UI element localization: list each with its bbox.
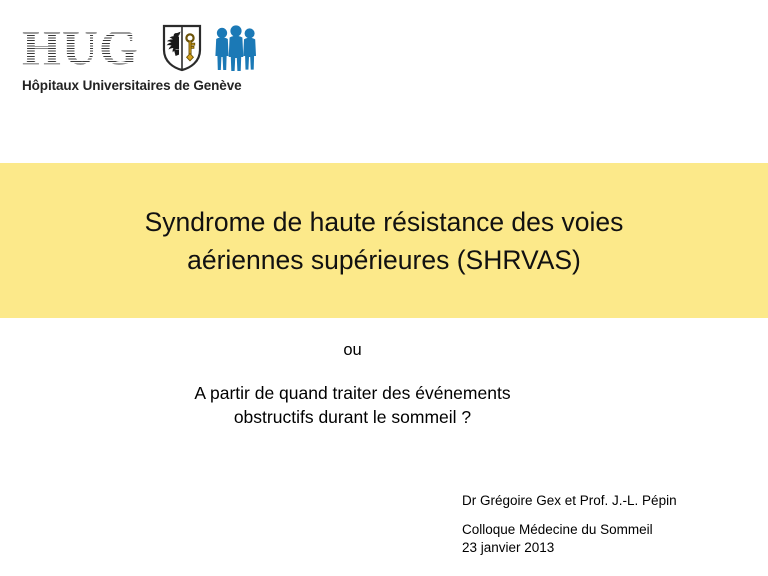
title-line-2: aériennes supérieures (SHRVAS) [54, 241, 714, 279]
subtitle-block: ou A partir de quand traiter des événeme… [0, 340, 705, 429]
geneva-coat-of-arms-icon [162, 24, 202, 77]
author-date: 23 janvier 2013 [462, 539, 677, 557]
logo-marks: HUG [22, 20, 272, 76]
subtitle-question-line-2: obstructifs durant le sommeil ? [0, 405, 705, 429]
hug-wordmark: HUG [22, 22, 139, 72]
page-title: Syndrome de haute résistance des voies a… [54, 203, 714, 279]
subtitle-question-line-1: A partir de quand traiter des événements [0, 381, 705, 405]
subtitle-connector: ou [0, 340, 705, 360]
title-banner: Syndrome de haute résistance des voies a… [0, 163, 768, 318]
author-event: Colloque Médecine du Sommeil [462, 521, 677, 539]
author-names: Dr Grégoire Gex et Prof. J.-L. Pépin [462, 492, 677, 510]
three-people-icon [212, 25, 260, 77]
author-block: Dr Grégoire Gex et Prof. J.-L. Pépin Col… [462, 492, 677, 557]
hug-logo: HUG [22, 20, 282, 102]
title-line-1: Syndrome de haute résistance des voies [54, 203, 714, 241]
logo-tagline: Hôpitaux Universitaires de Genève [22, 78, 242, 93]
subtitle-question: A partir de quand traiter des événements… [0, 381, 705, 429]
